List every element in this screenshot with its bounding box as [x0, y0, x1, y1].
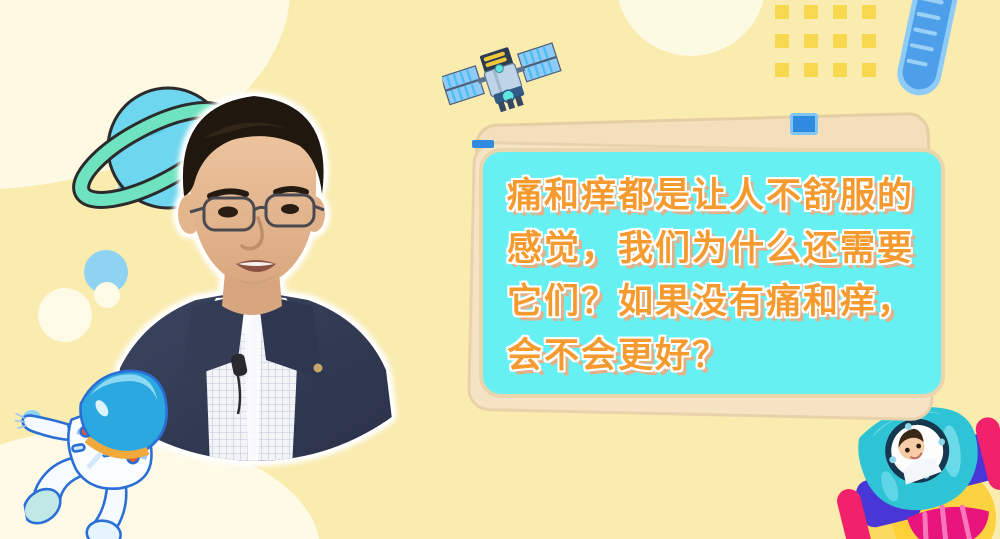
- grid-square: [775, 63, 789, 77]
- grid-square: [862, 5, 876, 19]
- subtitle-line-1: 痛和痒都是让人不舒服的: [507, 170, 927, 223]
- subtitle-line-3: 它们？如果没有痛和痒，: [507, 276, 927, 329]
- video-frame: 痛和痒都是让人不舒服的 感觉，我们为什么还需要 它们？如果没有痛和痒， 会不会更…: [0, 0, 1000, 539]
- grid-square: [804, 34, 818, 48]
- grid-square: [775, 34, 789, 48]
- grid-square: [833, 34, 847, 48]
- grid-square: [862, 34, 876, 48]
- blue-tab-top: [790, 113, 818, 135]
- subtitle-line-4: 会不会更好？: [507, 330, 927, 383]
- grid-square: [804, 63, 818, 77]
- astronaut-icon: [2, 355, 190, 539]
- square-grid-pattern: [775, 5, 876, 77]
- satellite-icon: [438, 32, 568, 128]
- grid-square: [804, 5, 818, 19]
- grid-square: [833, 5, 847, 19]
- subtitle-card: 痛和痒都是让人不舒服的 感觉，我们为什么还需要 它们？如果没有痛和痒， 会不会更…: [479, 148, 945, 398]
- grid-square: [833, 63, 847, 77]
- blue-tab-left: [472, 140, 494, 148]
- grid-square: [862, 63, 876, 77]
- grid-square: [775, 5, 789, 19]
- cream-dot-1: [38, 288, 92, 342]
- subtitle-line-2: 感觉，我们为什么还需要: [507, 223, 927, 276]
